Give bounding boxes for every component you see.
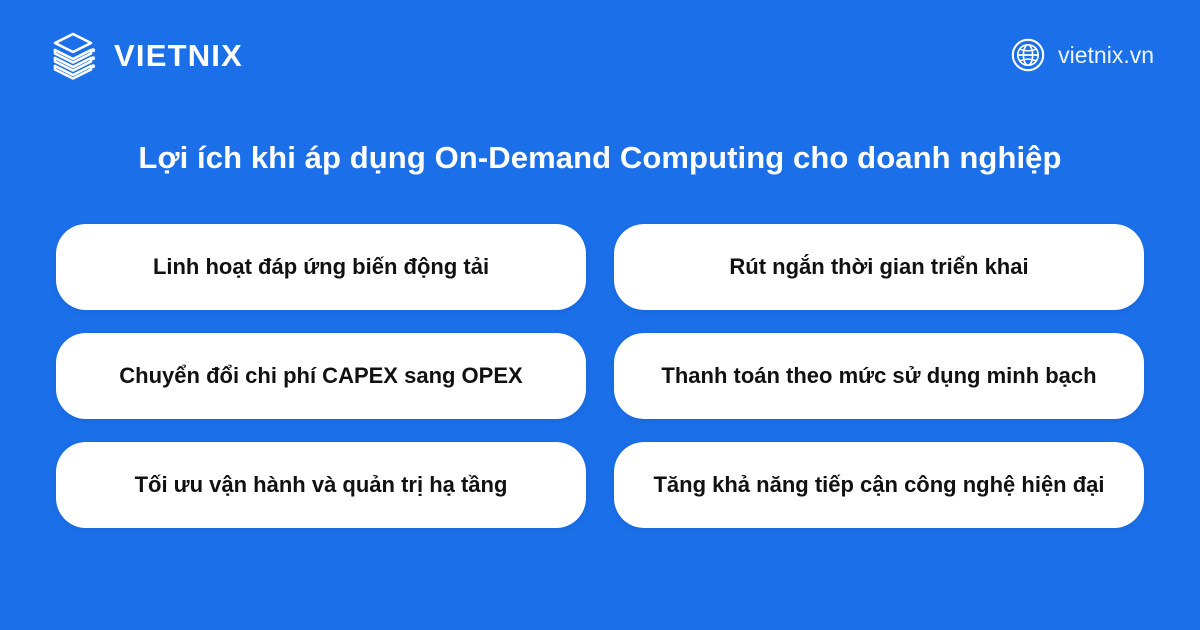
benefit-label: Chuyển đổi chi phí CAPEX sang OPEX xyxy=(119,362,522,390)
benefit-card[interactable]: Tối ưu vận hành và quản trị hạ tầng xyxy=(56,442,586,528)
stacked-layers-icon xyxy=(48,29,100,81)
benefit-card[interactable]: Tăng khả năng tiếp cận công nghệ hiện đạ… xyxy=(614,442,1144,528)
infographic-poster: VIETNIX vietnix.vn Lợi ích khi áp dụng O… xyxy=(0,0,1200,630)
benefit-card[interactable]: Rút ngắn thời gian triển khai xyxy=(614,224,1144,310)
benefits-grid: Linh hoạt đáp ứng biến động tải Rút ngắn… xyxy=(56,224,1144,528)
brand-logo: VIETNIX xyxy=(48,29,243,81)
page-title: Lợi ích khi áp dụng On-Demand Computing … xyxy=(0,135,1200,181)
brand-name: VIETNIX xyxy=(114,40,243,71)
poster-header: VIETNIX vietnix.vn xyxy=(0,0,1200,110)
site-url-text: vietnix.vn xyxy=(1058,44,1154,67)
benefit-label: Thanh toán theo mức sử dụng minh bạch xyxy=(661,362,1096,390)
benefit-label: Rút ngắn thời gian triển khai xyxy=(729,253,1028,281)
benefit-card[interactable]: Chuyển đổi chi phí CAPEX sang OPEX xyxy=(56,333,586,419)
site-url-badge[interactable]: vietnix.vn xyxy=(1011,38,1154,72)
globe-icon xyxy=(1011,38,1045,72)
benefit-card[interactable]: Thanh toán theo mức sử dụng minh bạch xyxy=(614,333,1144,419)
benefit-label: Tăng khả năng tiếp cận công nghệ hiện đạ… xyxy=(653,471,1104,499)
benefit-card[interactable]: Linh hoạt đáp ứng biến động tải xyxy=(56,224,586,310)
benefit-label: Tối ưu vận hành và quản trị hạ tầng xyxy=(135,471,508,499)
benefit-label: Linh hoạt đáp ứng biến động tải xyxy=(153,253,489,281)
